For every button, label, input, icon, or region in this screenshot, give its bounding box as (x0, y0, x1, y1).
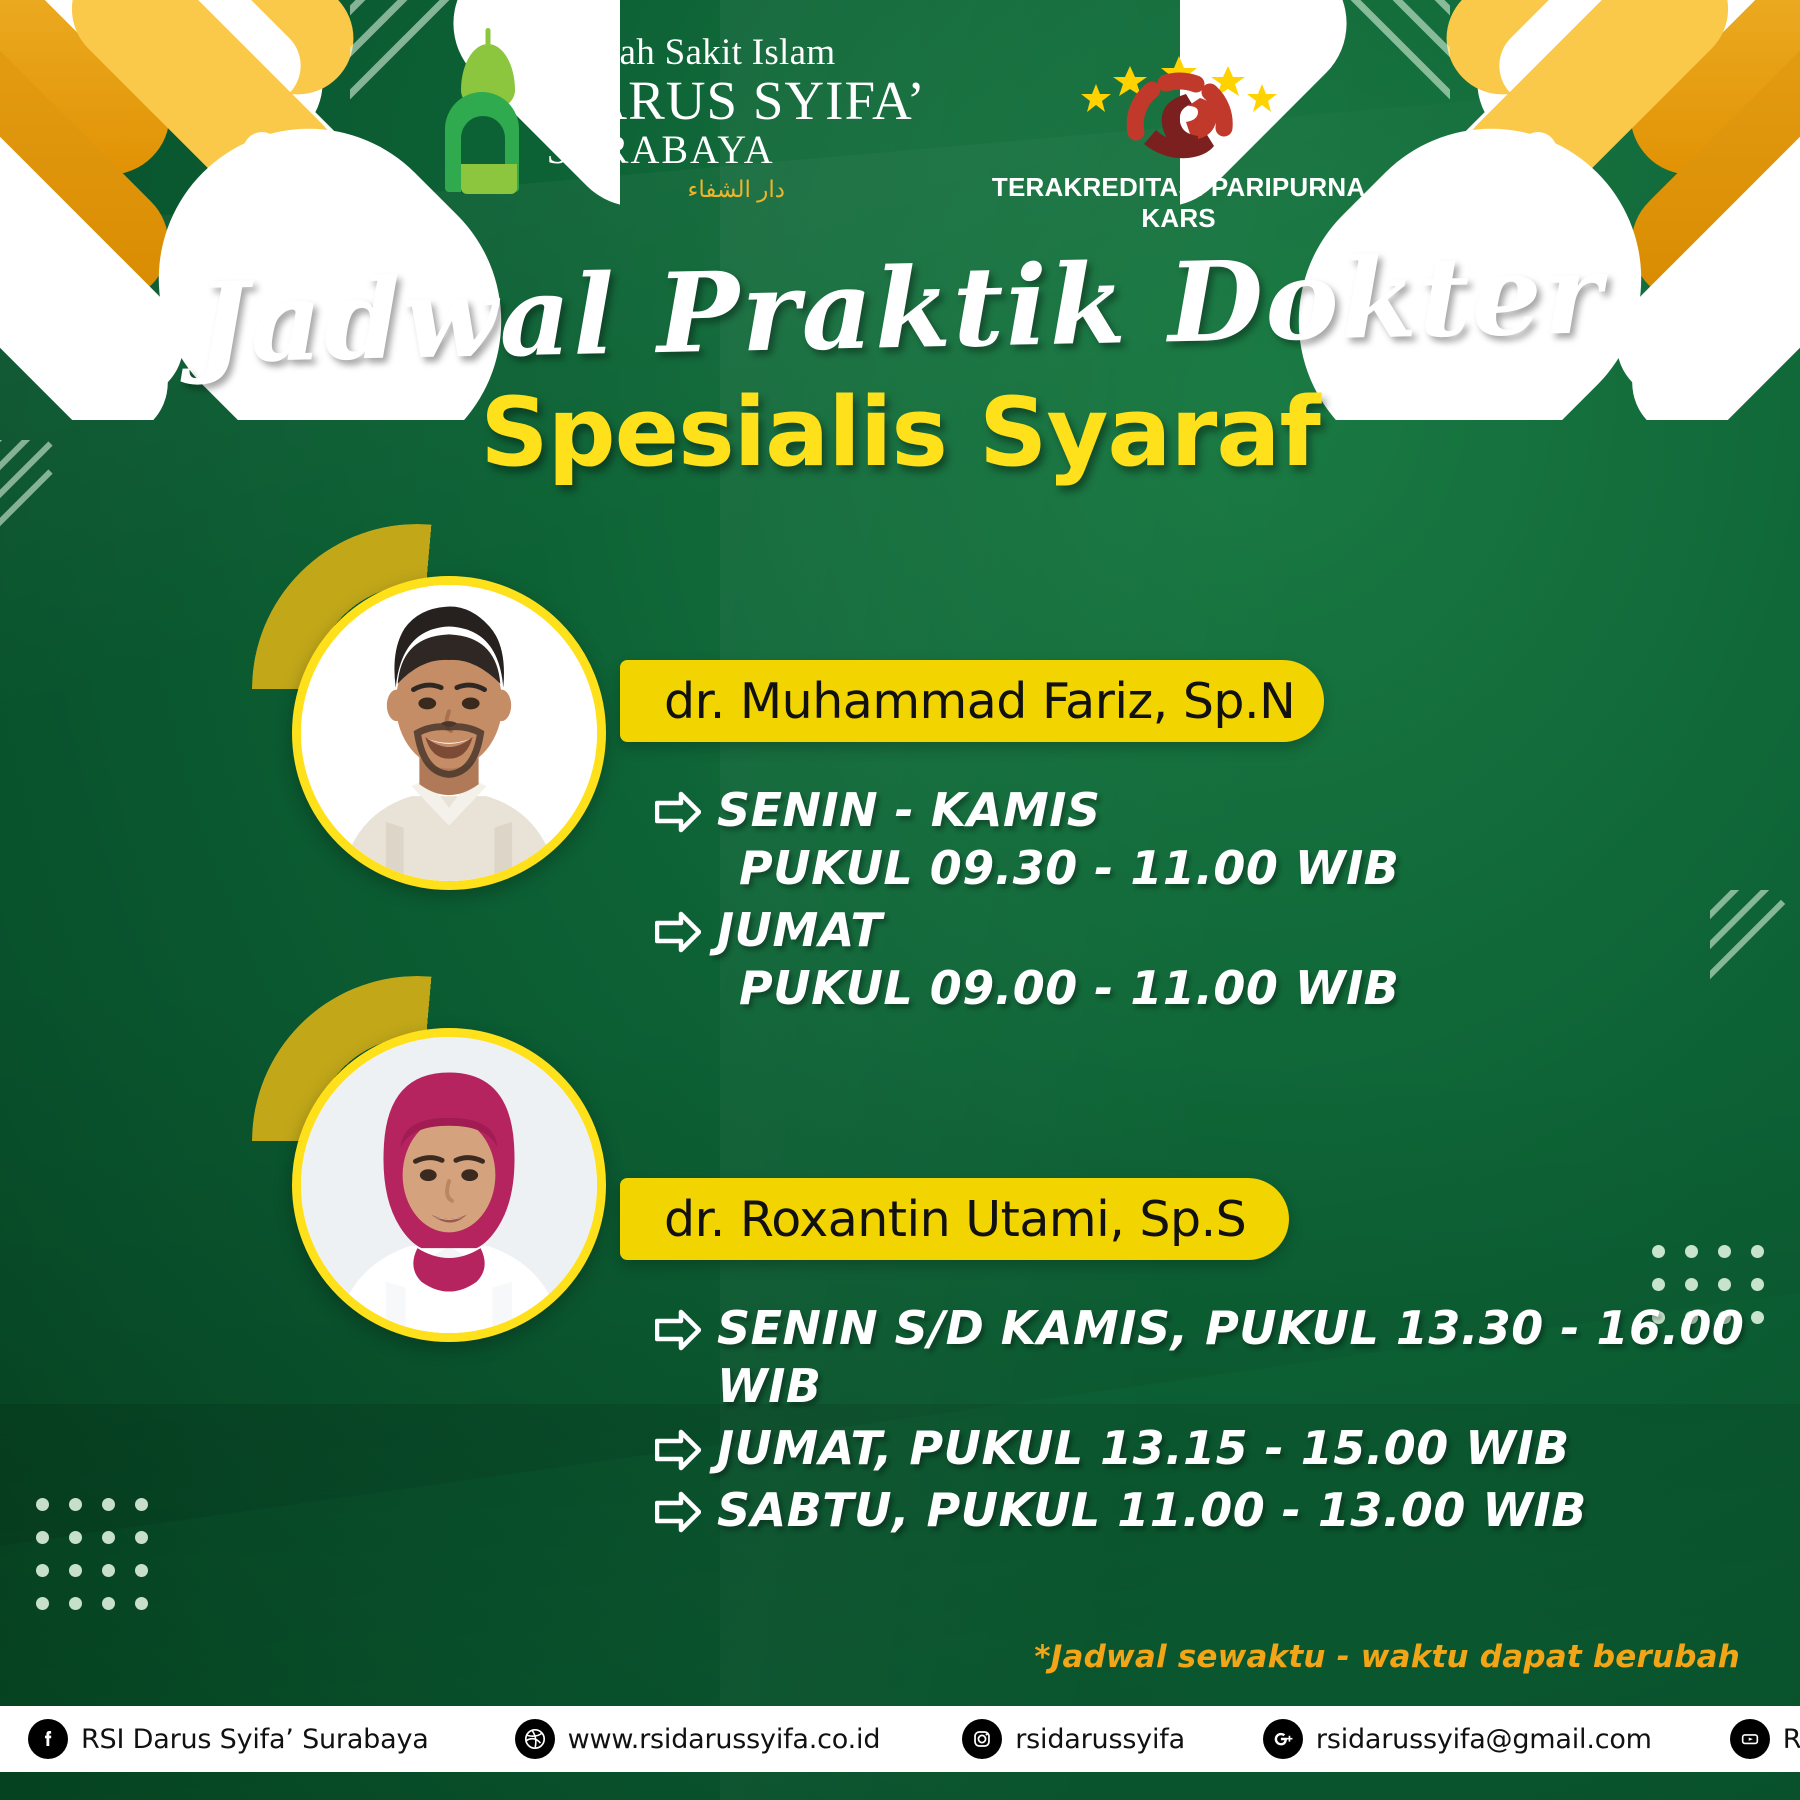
doctor-2-avatar (292, 1028, 606, 1342)
arrow-right-icon (655, 1490, 701, 1534)
schedule-day: JUMAT, PUKUL 13.15 - 15.00 WIB (717, 1420, 1570, 1478)
footer-label: www.rsidarussyifa.co.id (568, 1724, 881, 1755)
facebook-icon (28, 1719, 68, 1759)
doctor-2-name: dr. Roxantin Utami, Sp.S (664, 1191, 1246, 1248)
footer-item-facebook[interactable]: RSI Darus Syifa’ Surabaya (28, 1719, 429, 1759)
footer-label: rsidarussyifa@gmail.com (1316, 1724, 1652, 1755)
doctor-2-schedule: SENIN S/D KAMIS, PUKUL 13.30 - 16.00 WIB… (655, 1300, 1800, 1544)
footer-bar: RSI Darus Syifa’ Surabaya www.rsidarussy… (0, 1706, 1800, 1772)
doctor-2-photo-frame (258, 1000, 598, 1340)
website-icon (515, 1719, 555, 1759)
schedule-row: SENIN S/D KAMIS, PUKUL 13.30 - 16.00 WIB (655, 1300, 1800, 1416)
schedule-day: SENIN S/D KAMIS, PUKUL 13.30 - 16.00 WIB (717, 1300, 1800, 1416)
poster-canvas: Rumah Sakit Islam DARUS SYIFA’ SURABAYA … (0, 0, 1800, 1800)
google-plus-icon (1263, 1719, 1303, 1759)
footer-item-email[interactable]: rsidarussyifa@gmail.com (1263, 1719, 1652, 1759)
arrow-right-icon (655, 1428, 701, 1472)
youtube-icon (1730, 1719, 1770, 1759)
schedule-row: SABTU, PUKUL 11.00 - 13.00 WIB (655, 1482, 1800, 1540)
disclaimer-note: *Jadwal sewaktu - waktu dapat berubah (1034, 1639, 1740, 1675)
arrow-right-icon (655, 1308, 701, 1352)
doctor-card-2: dr. Roxantin Utami, Sp.S SENIN S/D KAMIS… (0, 0, 1800, 1800)
doctor-2-name-bar: dr. Roxantin Utami, Sp.S (620, 1178, 1289, 1260)
footer-label: Rumah Sakit Islam Darus Syifa’ (1783, 1724, 1800, 1755)
footer-label: RSI Darus Syifa’ Surabaya (81, 1724, 429, 1755)
footer-item-instagram[interactable]: rsidarussyifa (962, 1719, 1185, 1759)
schedule-row: JUMAT, PUKUL 13.15 - 15.00 WIB (655, 1420, 1800, 1478)
footer-label: rsidarussyifa (1015, 1724, 1185, 1755)
instagram-icon (962, 1719, 1002, 1759)
footer-item-youtube[interactable]: Rumah Sakit Islam Darus Syifa’ (1730, 1719, 1800, 1759)
schedule-day: SABTU, PUKUL 11.00 - 13.00 WIB (717, 1482, 1587, 1540)
footer-item-website[interactable]: www.rsidarussyifa.co.id (515, 1719, 881, 1759)
